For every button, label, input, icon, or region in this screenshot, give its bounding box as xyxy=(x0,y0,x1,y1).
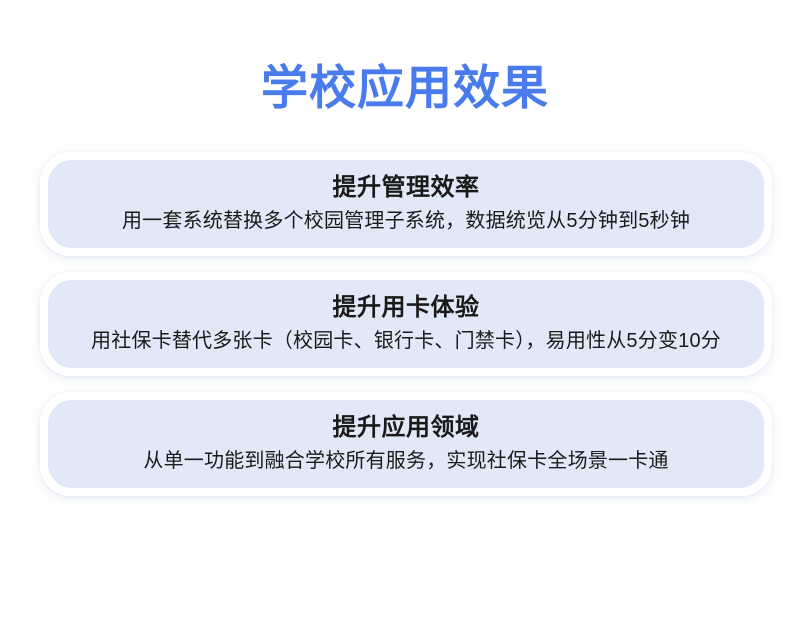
school-application-effects-page: 学校应用效果 提升管理效率 用一套系统替换多个校园管理子系统，数据统览从5分钟到… xyxy=(0,0,810,622)
effect-card-heading: 提升管理效率 xyxy=(333,173,480,203)
effect-card: 提升用卡体验 用社保卡替代多张卡（校园卡、银行卡、门禁卡），易用性从5分变10分 xyxy=(40,272,772,376)
effect-card-inner: 提升应用领域 从单一功能到融合学校所有服务，实现社保卡全场景一卡通 xyxy=(48,400,764,488)
effect-card-body: 用社保卡替代多张卡（校园卡、银行卡、门禁卡），易用性从5分变10分 xyxy=(91,327,721,355)
effect-card: 提升管理效率 用一套系统替换多个校园管理子系统，数据统览从5分钟到5秒钟 xyxy=(40,152,772,256)
effect-card-body: 用一套系统替换多个校园管理子系统，数据统览从5分钟到5秒钟 xyxy=(122,207,690,235)
effect-card-inner: 提升管理效率 用一套系统替换多个校园管理子系统，数据统览从5分钟到5秒钟 xyxy=(48,160,764,248)
effect-card-body: 从单一功能到融合学校所有服务，实现社保卡全场景一卡通 xyxy=(143,447,668,475)
page-title: 学校应用效果 xyxy=(0,58,810,118)
effect-card-list: 提升管理效率 用一套系统替换多个校园管理子系统，数据统览从5分钟到5秒钟 提升用… xyxy=(40,152,772,496)
effect-card-inner: 提升用卡体验 用社保卡替代多张卡（校园卡、银行卡、门禁卡），易用性从5分变10分 xyxy=(48,280,764,368)
effect-card-heading: 提升用卡体验 xyxy=(333,293,480,323)
effect-card-heading: 提升应用领域 xyxy=(333,413,480,443)
effect-card: 提升应用领域 从单一功能到融合学校所有服务，实现社保卡全场景一卡通 xyxy=(40,392,772,496)
